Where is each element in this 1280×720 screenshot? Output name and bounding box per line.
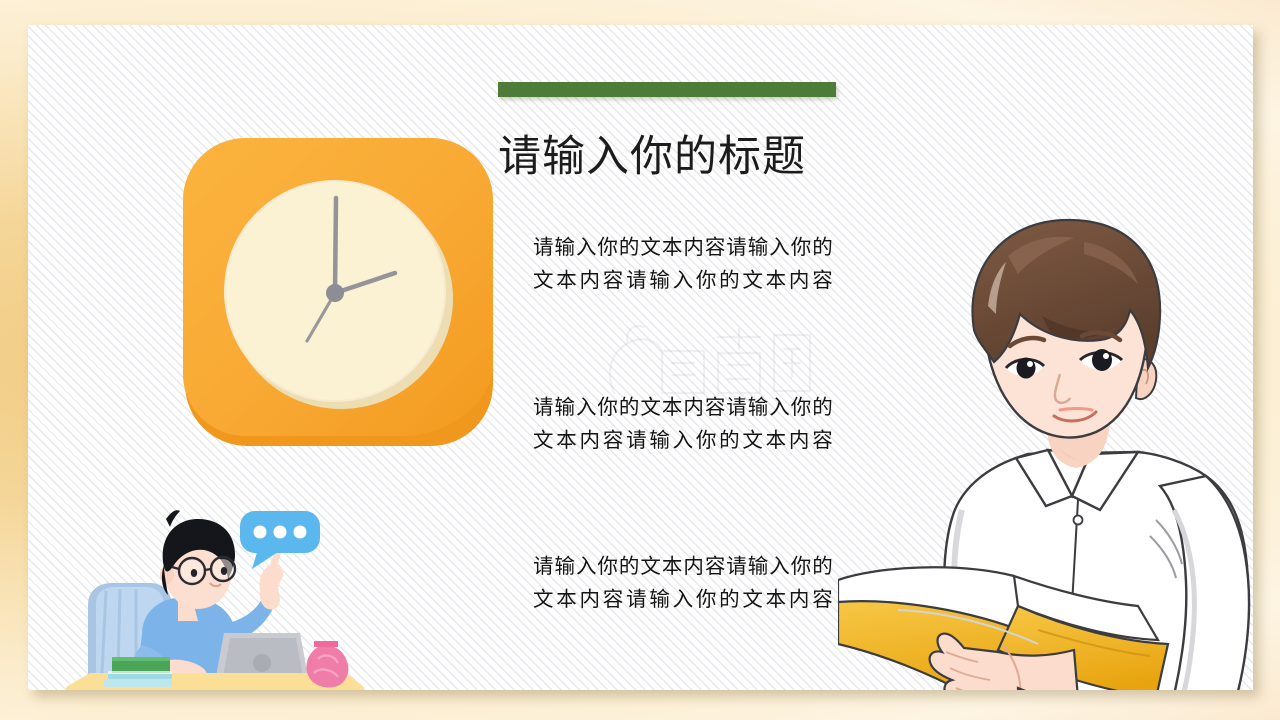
person-head: [972, 220, 1160, 437]
page-title: 请输入你的标题: [498, 130, 1018, 184]
slide-panel: 请输入你的标题 请输入你的文本内容请输入你的文本内容请输入你的文本内容 请输入你…: [28, 25, 1253, 690]
vase-icon: [306, 641, 348, 688]
slide-canvas: 请输入你的标题 请输入你的文本内容请输入你的文本内容请输入你的文本内容 请输入你…: [0, 0, 1280, 720]
body-paragraph-1: 请输入你的文本内容请输入你的文本内容请输入你的文本内容: [533, 231, 833, 297]
body-paragraph-2: 请输入你的文本内容请输入你的文本内容请输入你的文本内容: [533, 391, 833, 457]
student-reading-illustration: [838, 210, 1253, 690]
accent-bar: [498, 82, 836, 97]
clock-icon: [179, 136, 497, 448]
books-icon: [104, 657, 172, 687]
person-at-desk-illustration: [46, 495, 376, 690]
body-paragraph-3: 请输入你的文本内容请输入你的文本内容请输入你的文本内容: [533, 550, 833, 616]
speech-bubble-icon: [240, 511, 320, 569]
